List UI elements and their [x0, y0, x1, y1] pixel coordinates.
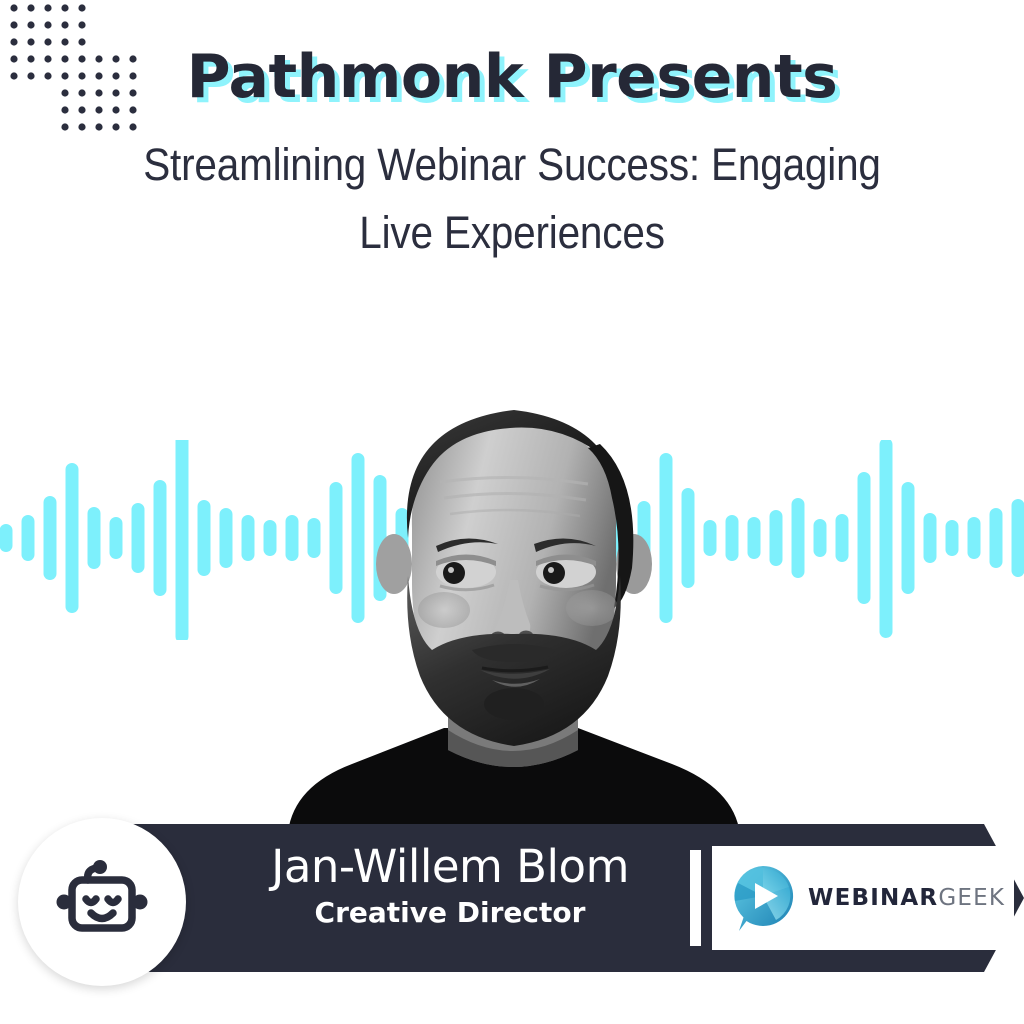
avatar	[18, 818, 186, 986]
robot-avatar-icon	[50, 850, 154, 954]
headline-block: Pathmonk Presents Streamlining Webinar S…	[0, 0, 1024, 268]
banner-divider	[690, 850, 701, 946]
episode-title-line-2: Live Experiences	[359, 207, 665, 258]
speaker-portrait	[248, 332, 778, 892]
partner-wordmark: WEBINARGEEK	[808, 885, 1005, 911]
partner-wordmark-light: GEEK	[938, 885, 1005, 911]
speaker-text-group: Jan-Willem Blom Creative Director	[210, 840, 690, 930]
speaker-banner: Jan-Willem Blom Creative Director	[100, 824, 1024, 972]
speaker-role: Creative Director	[210, 894, 690, 930]
episode-title: Streamlining Webinar Success: Engaging L…	[51, 109, 973, 268]
page-title: Pathmonk Presents	[0, 0, 1024, 109]
webinargeek-play-bubble-icon	[726, 861, 800, 935]
episode-title-line-1: Streamlining Webinar Success: Engaging	[143, 139, 881, 190]
speaker-name: Jan-Willem Blom	[210, 840, 690, 894]
partner-logo[interactable]: WEBINARGEEK	[712, 846, 1014, 950]
partner-wordmark-strong: WEBINAR	[808, 885, 938, 911]
